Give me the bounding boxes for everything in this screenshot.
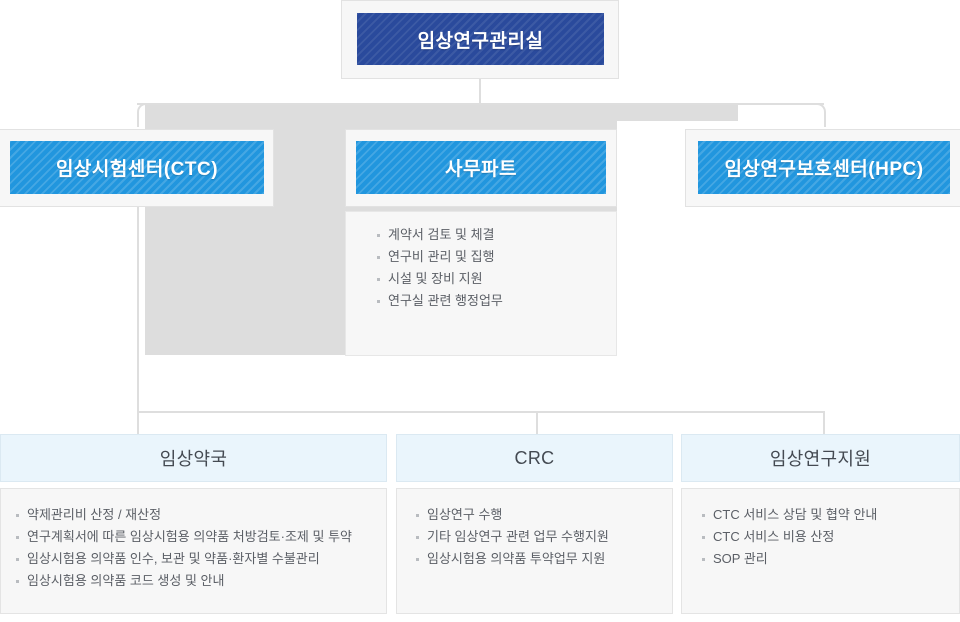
connector-row3-right-drop bbox=[823, 411, 825, 435]
list-item: 계약서 검토 및 체결 bbox=[375, 224, 610, 246]
node-hpc[interactable]: 임상연구보호센터(HPC) bbox=[698, 141, 950, 194]
list-item: 기타 임상연구 관련 업무 수행지원 bbox=[414, 526, 669, 548]
list-pharmacy: 약제관리비 산정 / 재산정 연구계획서에 따른 임상시험용 의약품 처방검토·… bbox=[14, 504, 384, 592]
list-office: 계약서 검토 및 체결 연구비 관리 및 집행 시설 및 장비 지원 연구실 관… bbox=[375, 224, 610, 312]
crc-bullet-list: 임상연구 수행 기타 임상연구 관련 업무 수행지원 임상시험용 의약품 투약업… bbox=[414, 504, 669, 570]
list-item: 연구계획서에 따른 임상시험용 의약품 처방검토·조제 및 투약 bbox=[14, 526, 384, 548]
group-header-pharmacy[interactable]: 임상약국 bbox=[0, 434, 387, 482]
connector-row3-center-drop bbox=[536, 411, 538, 435]
backdrop-panel-right bbox=[617, 105, 738, 121]
pharmacy-bullet-list: 약제관리비 산정 / 재산정 연구계획서에 따른 임상시험용 의약품 처방검토·… bbox=[14, 504, 384, 592]
list-item: CTC 서비스 비용 산정 bbox=[700, 526, 955, 548]
office-bullet-list: 계약서 검토 및 체결 연구비 관리 및 집행 시설 및 장비 지원 연구실 관… bbox=[375, 224, 610, 312]
connector-root-down bbox=[479, 78, 481, 105]
organization-chart: 임상연구관리실 임상시험센터(CTC) 사무파트 계약서 검토 및 체결 연구비… bbox=[0, 0, 960, 622]
connector-row2-right-elbow bbox=[814, 103, 826, 127]
connector-ctc-spine bbox=[137, 207, 139, 413]
connector-row3-bus bbox=[137, 411, 825, 413]
list-research-support: CTC 서비스 상담 및 협약 안내 CTC 서비스 비용 산정 SOP 관리 bbox=[700, 504, 955, 570]
list-item: CTC 서비스 상담 및 협약 안내 bbox=[700, 504, 955, 526]
list-item: 연구비 관리 및 집행 bbox=[375, 246, 610, 268]
group-header-crc[interactable]: CRC bbox=[396, 434, 673, 482]
list-item: SOP 관리 bbox=[700, 548, 955, 570]
list-item: 시설 및 장비 지원 bbox=[375, 268, 610, 290]
list-item: 약제관리비 산정 / 재산정 bbox=[14, 504, 384, 526]
list-item: 임상연구 수행 bbox=[414, 504, 669, 526]
node-office[interactable]: 사무파트 bbox=[356, 141, 606, 194]
list-item: 임상시험용 의약품 투약업무 지원 bbox=[414, 548, 669, 570]
list-item: 임상시험용 의약품 코드 생성 및 안내 bbox=[14, 570, 384, 592]
node-root[interactable]: 임상연구관리실 bbox=[357, 13, 604, 65]
group-header-research-support[interactable]: 임상연구지원 bbox=[681, 434, 960, 482]
research-support-bullet-list: CTC 서비스 상담 및 협약 안내 CTC 서비스 비용 산정 SOP 관리 bbox=[700, 504, 955, 570]
list-item: 임상시험용 의약품 인수, 보관 및 약품·환자별 수불관리 bbox=[14, 548, 384, 570]
connector-row3-left-drop bbox=[137, 411, 139, 435]
node-ctc[interactable]: 임상시험센터(CTC) bbox=[10, 141, 264, 194]
list-item: 연구실 관련 행정업무 bbox=[375, 290, 610, 312]
list-crc: 임상연구 수행 기타 임상연구 관련 업무 수행지원 임상시험용 의약품 투약업… bbox=[414, 504, 669, 570]
